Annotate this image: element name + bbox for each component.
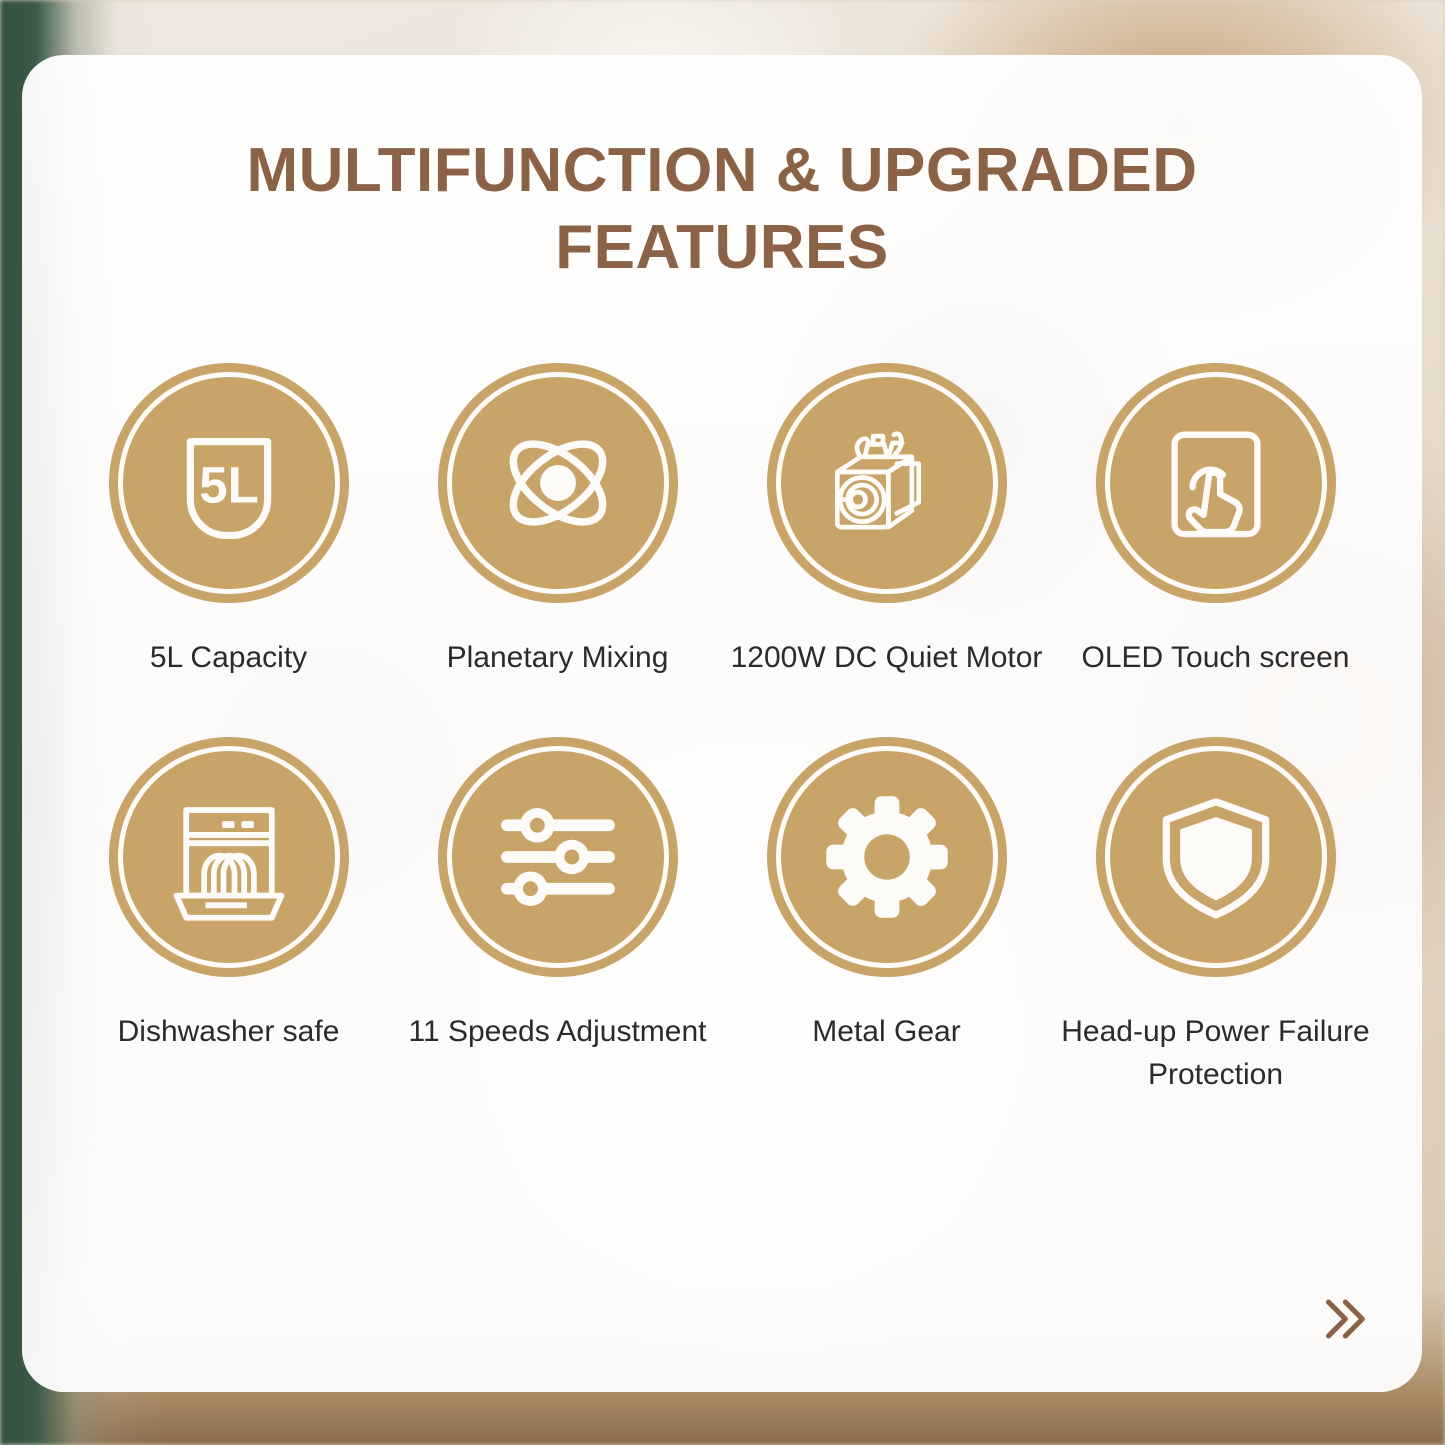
feature-item-metal-gear[interactable]: Metal Gear — [722, 737, 1051, 1096]
feature-item-power-failure-protection[interactable]: Head-up Power Failure Protection — [1051, 737, 1380, 1096]
icon-badge — [1096, 737, 1336, 977]
icon-badge — [438, 363, 678, 603]
icon-badge — [767, 363, 1007, 603]
feature-item-touch-screen[interactable]: OLED Touch screen — [1051, 363, 1380, 680]
feature-label: 5L Capacity — [150, 637, 307, 680]
bowl-5l-icon: 5L — [160, 414, 298, 552]
feature-item-speeds-adjustment[interactable]: 11 Speeds Adjustment — [393, 737, 722, 1096]
icon-badge — [767, 737, 1007, 977]
feature-panel: MULTIFUNCTION & UPGRADED FEATURES 5L 5L … — [22, 55, 1422, 1392]
feature-label: 1200W DC Quiet Motor — [731, 637, 1043, 680]
shield-icon — [1147, 788, 1285, 926]
double-chevron-right-icon — [1314, 1290, 1372, 1348]
feature-label: Metal Gear — [812, 1011, 960, 1054]
icon-badge: 5L — [109, 363, 349, 603]
icon-badge — [438, 737, 678, 977]
feature-item-dishwasher-safe[interactable]: Dishwasher safe — [64, 737, 393, 1096]
feature-label: Head-up Power Failure Protection — [1051, 1011, 1380, 1096]
planetary-orbit-icon — [489, 414, 627, 552]
feature-label: OLED Touch screen — [1082, 637, 1350, 680]
gear-icon — [818, 788, 956, 926]
feature-label: 11 Speeds Adjustment — [409, 1011, 707, 1054]
feature-item-planetary-mixing[interactable]: Planetary Mixing — [393, 363, 722, 680]
icon-badge — [1096, 363, 1336, 603]
bowl-capacity-text: 5L — [199, 456, 259, 513]
feature-item-5l-capacity[interactable]: 5L 5L Capacity — [64, 363, 393, 680]
electric-motor-icon — [818, 414, 956, 552]
feature-grid: 5L 5L Capacity Planetary Mixing — [22, 363, 1422, 1097]
feature-item-motor[interactable]: 1200W DC Quiet Motor — [722, 363, 1051, 680]
sliders-icon — [489, 788, 627, 926]
page-title: MULTIFUNCTION & UPGRADED FEATURES — [22, 133, 1422, 287]
icon-badge — [109, 737, 349, 977]
dishwasher-icon — [160, 788, 298, 926]
next-button[interactable] — [1312, 1288, 1374, 1350]
feature-label: Planetary Mixing — [447, 637, 669, 680]
touch-screen-icon — [1147, 414, 1285, 552]
feature-label: Dishwasher safe — [118, 1011, 340, 1054]
